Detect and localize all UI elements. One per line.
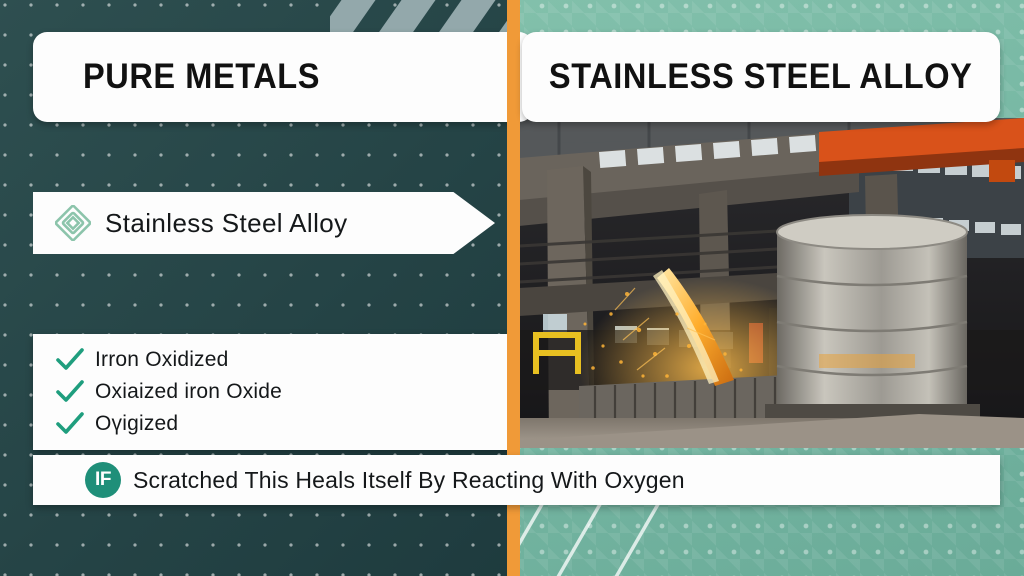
- list-item: Oүigized: [33, 408, 511, 440]
- page-title-left: PURE METALS: [83, 57, 320, 97]
- slide-root: PURE METALS STAINLESS STEEL ALLOY Stainl…: [0, 0, 1024, 576]
- steel-mill-photo: [519, 118, 1024, 448]
- list-item: Oxiaized iron Oxide: [33, 376, 511, 408]
- right-title-card: STAINLESS STEEL ALLOY: [522, 32, 1000, 122]
- if-badge: IF: [85, 462, 121, 498]
- checklist-card: Irron Oxidized Oxiaized iron Oxide Oүigi…: [33, 334, 511, 450]
- list-item-label: Oүigized: [95, 412, 178, 436]
- list-item-label: Irron Oxidized: [95, 348, 229, 372]
- bottom-banner-text: Scratched This Heals Itself By Reacting …: [133, 467, 685, 494]
- check-icon: [55, 379, 85, 405]
- left-title-card: PURE METALS: [33, 32, 533, 122]
- check-icon: [55, 411, 85, 437]
- list-item: Irron Oxidized: [33, 344, 511, 376]
- page-title-right: STAINLESS STEEL ALLOY: [549, 57, 972, 97]
- bottom-banner: IF Scratched This Heals Itself By Reacti…: [33, 455, 1000, 505]
- diamond-icon: [55, 205, 91, 241]
- list-item-label: Oxiaized iron Oxide: [95, 380, 282, 404]
- arrow-banner[interactable]: Stainless Steel Alloy: [33, 192, 495, 254]
- check-icon: [55, 347, 85, 373]
- arrow-banner-label: Stainless Steel Alloy: [105, 208, 348, 239]
